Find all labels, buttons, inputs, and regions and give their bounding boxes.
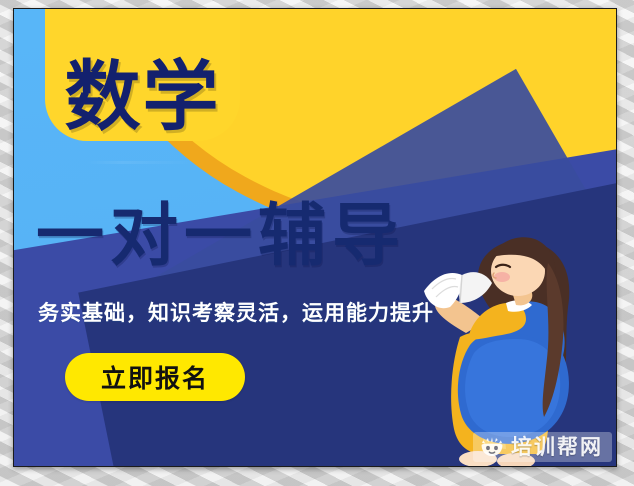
promotional-banner: 数学 bbox=[13, 8, 617, 467]
register-now-label: 立即报名 bbox=[101, 359, 209, 395]
page-title: 一对一辅导 bbox=[36, 203, 406, 271]
cheek-blush bbox=[494, 272, 510, 282]
banner-subtitle: 务实基础，知识考察灵活，运用能力提升 bbox=[38, 303, 434, 324]
watermark-label: 培训帮网 bbox=[511, 437, 603, 458]
subject-badge: 数学 bbox=[45, 8, 240, 141]
page-canvas: 数学 bbox=[0, 0, 634, 486]
register-now-button[interactable]: 立即报名 bbox=[65, 353, 245, 401]
watermark: 培训帮网 bbox=[473, 432, 612, 462]
sun-face-icon bbox=[480, 436, 504, 458]
subject-badge-label: 数学 bbox=[65, 59, 221, 135]
